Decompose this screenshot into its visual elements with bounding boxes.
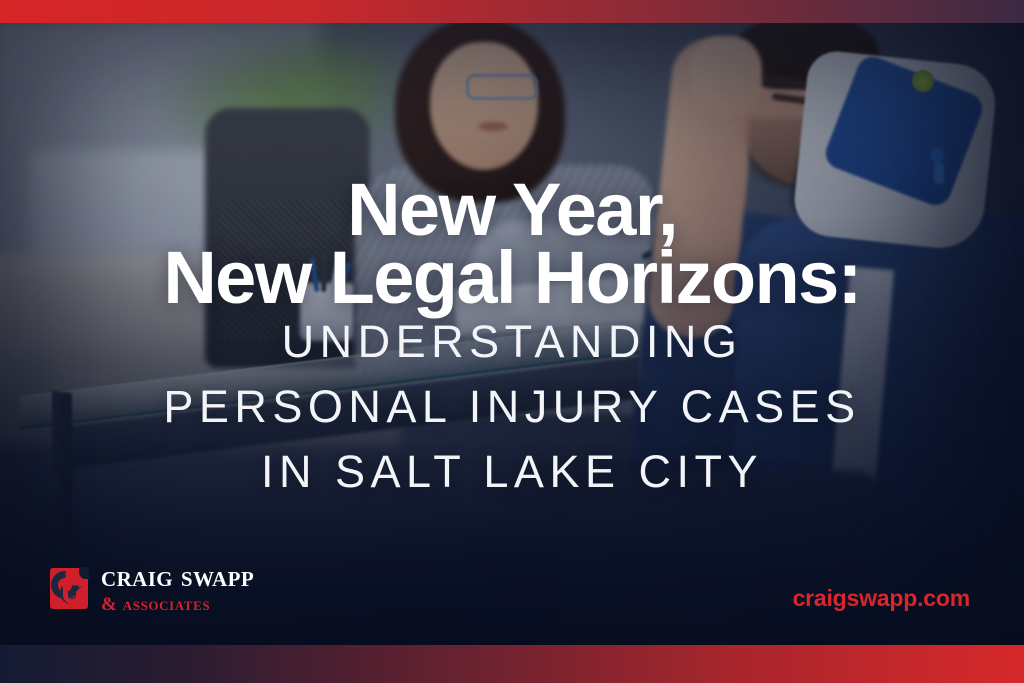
headline-line-1: New Year,: [0, 176, 1024, 245]
headline-line-2: New Legal Horizons:: [0, 244, 1024, 313]
subheadline-line-3: IN SALT LAKE CITY: [0, 440, 1024, 505]
blog-banner-poster: New Year, New Legal Horizons: UNDERSTAND…: [0, 0, 1024, 683]
subheadline: UNDERSTANDING PERSONAL INJURY CASES IN S…: [0, 310, 1024, 504]
logo-corner-notch: [79, 567, 89, 579]
banner-content: New Year, New Legal Horizons: UNDERSTAND…: [0, 0, 1024, 683]
craig-swapp-cs-monogram-icon: [48, 566, 90, 611]
subheadline-line-1: UNDERSTANDING: [0, 310, 1024, 375]
brand-logo: CRAIG SWAPP & ASSOCIATES: [48, 562, 254, 614]
website-url[interactable]: craigswapp.com: [793, 585, 970, 612]
brand-associates: & ASSOCIATES: [101, 595, 254, 614]
brand-logo-text: CRAIG SWAPP & ASSOCIATES: [101, 562, 254, 614]
brand-name: CRAIG SWAPP: [101, 562, 254, 592]
logo-s-red-shape: [63, 587, 81, 604]
subheadline-line-2: PERSONAL INJURY CASES: [0, 375, 1024, 440]
headline: New Year, New Legal Horizons:: [0, 176, 1024, 314]
